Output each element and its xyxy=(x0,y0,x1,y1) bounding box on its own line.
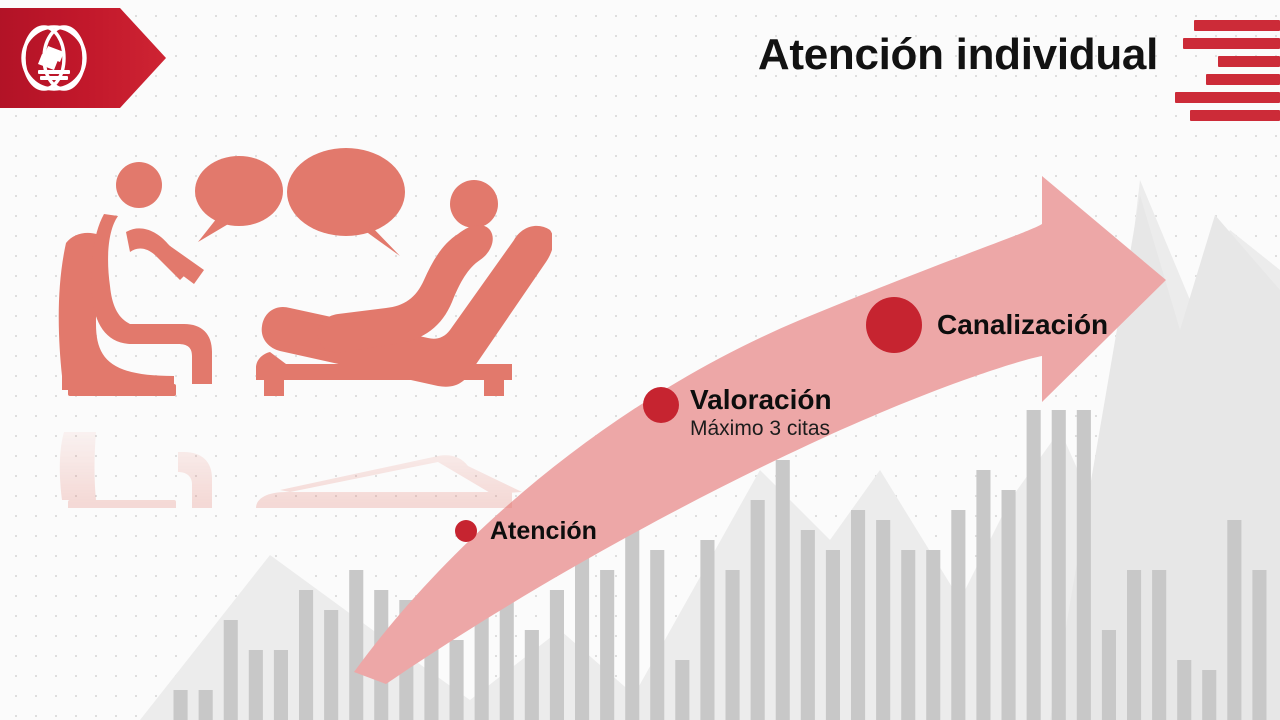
therapy-session-illustration xyxy=(52,138,552,438)
chart-bar xyxy=(299,590,313,720)
chart-bar xyxy=(174,690,188,720)
therapist-figure xyxy=(92,162,213,384)
chart-bar xyxy=(1252,570,1266,720)
milestone-text-canalizacion: Canalización xyxy=(922,310,1108,339)
milestone-text-atencion: Atención xyxy=(477,518,597,544)
milestone-dot-icon xyxy=(643,387,679,423)
page-title: Atención individual xyxy=(758,30,1158,80)
milestone-text-valoracion: Valoración Máximo 3 citas xyxy=(679,385,832,440)
speech-bubble-right xyxy=(287,148,405,256)
milestone-atencion[interactable]: Atención xyxy=(455,518,597,544)
chart-bar xyxy=(1202,670,1216,720)
brand-banner xyxy=(0,8,166,108)
milestone-valoracion[interactable]: Valoración Máximo 3 citas xyxy=(643,385,832,440)
milestone-label: Atención xyxy=(490,518,597,544)
milestone-sublabel: Máximo 3 citas xyxy=(690,418,832,440)
milestone-label: Canalización xyxy=(937,310,1108,339)
chart-bar xyxy=(199,690,213,720)
chart-bar xyxy=(249,650,263,720)
deco-bar-5 xyxy=(1175,92,1280,103)
deco-bar-1 xyxy=(1194,20,1280,31)
chart-bar xyxy=(1227,520,1241,720)
decorative-bar-group xyxy=(1180,10,1280,114)
speech-bubble-left xyxy=(195,156,283,242)
deco-bar-3 xyxy=(1218,56,1280,67)
slide-canvas: Atención individual Atención Valoración … xyxy=(0,0,1280,720)
milestone-canalizacion[interactable]: Canalización xyxy=(866,297,1108,353)
milestone-dot-icon xyxy=(455,520,477,542)
deco-bar-6 xyxy=(1190,110,1280,121)
milestone-label: Valoración xyxy=(690,385,832,414)
chart-bar xyxy=(224,620,238,720)
chart-bar xyxy=(274,650,288,720)
milestone-dot-icon xyxy=(866,297,922,353)
deco-bar-2 xyxy=(1183,38,1280,49)
deco-bar-4 xyxy=(1206,74,1280,85)
